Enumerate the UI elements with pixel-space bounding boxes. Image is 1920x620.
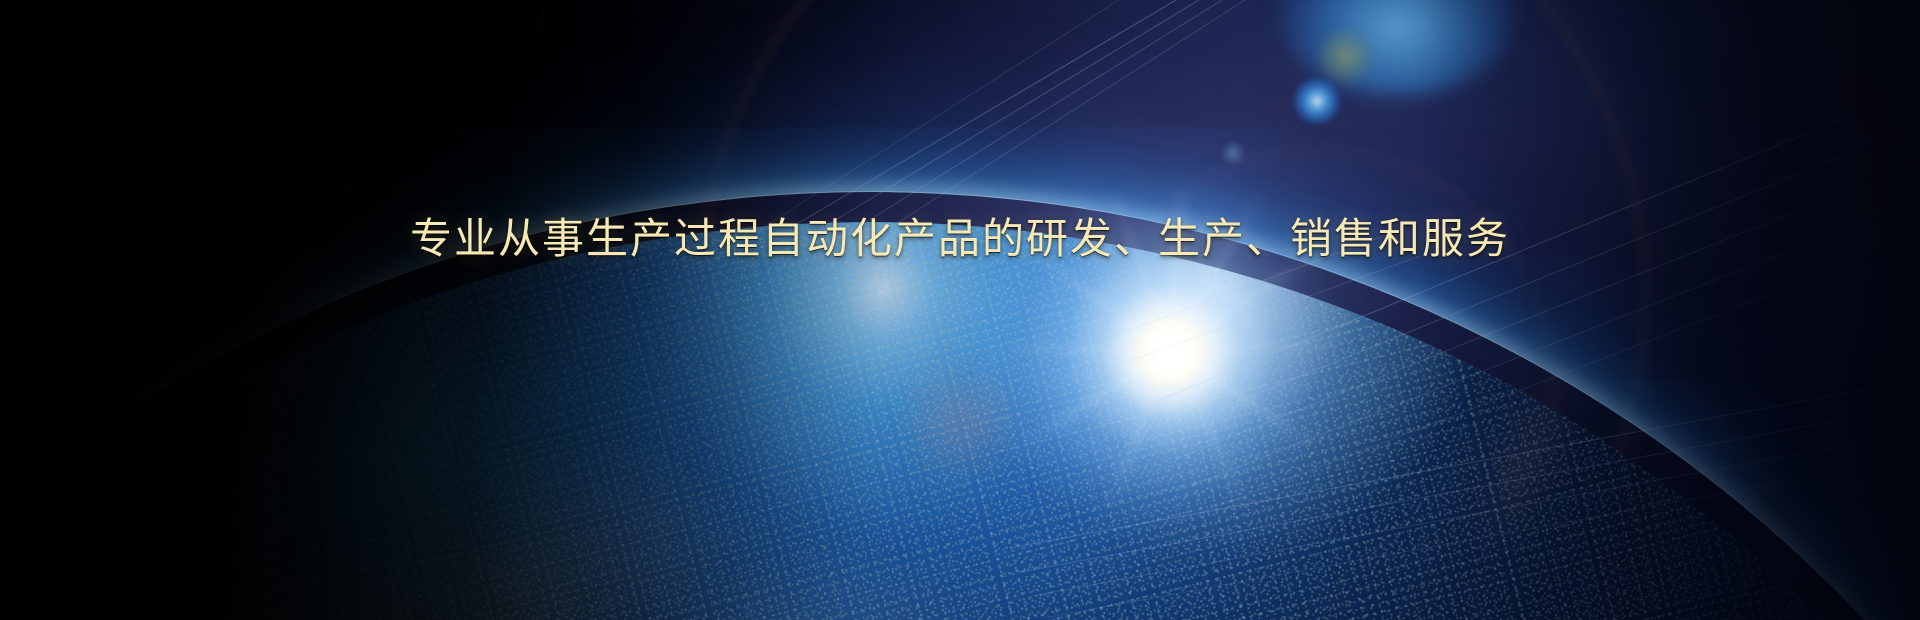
hero-banner: 专业从事生产过程自动化产品的研发、生产、销售和服务: [0, 0, 1920, 620]
right-edge-shadow: [0, 0, 1920, 620]
banner-headline: 专业从事生产过程自动化产品的研发、生产、销售和服务: [410, 214, 1510, 264]
